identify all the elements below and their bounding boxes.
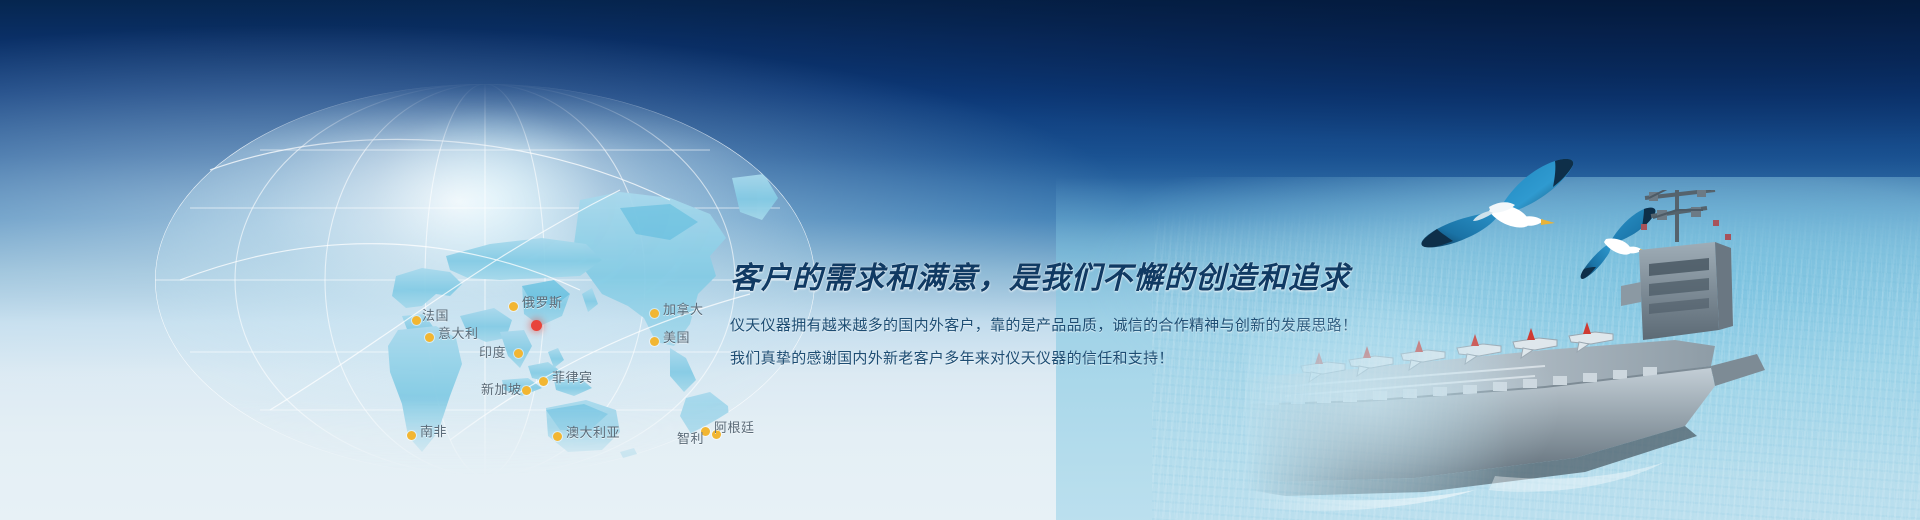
map-marker-canada[interactable] (650, 309, 659, 318)
map-marker-china[interactable] (531, 320, 542, 331)
map-label-india: 印度 (479, 342, 506, 361)
map-marker-singapore[interactable] (522, 386, 531, 395)
map-marker-italy[interactable] (425, 333, 434, 342)
map-label-canada: 加拿大 (663, 299, 704, 318)
map-marker-australia[interactable] (553, 432, 562, 441)
map-marker-russia[interactable] (509, 302, 518, 311)
map-marker-philippines[interactable] (539, 377, 548, 386)
map-label-russia: 俄罗斯 (522, 292, 563, 311)
map-label-australia: 澳大利亚 (566, 422, 620, 441)
map-label-argentina: 阿根廷 (714, 417, 755, 436)
map-label-singapore: 新加坡 (481, 379, 522, 398)
map-label-usa: 美国 (663, 327, 690, 346)
map-marker-south-africa[interactable] (407, 431, 416, 440)
carrier-haze (1245, 250, 1665, 510)
map-label-france: 法国 (422, 305, 449, 324)
hero-banner: 法国意大利俄罗斯印度加拿大美国菲律宾新加坡澳大利亚南非智利阿根廷 客户的需求和满… (0, 0, 1920, 520)
world-map-globe: 法国意大利俄罗斯印度加拿大美国菲律宾新加坡澳大利亚南非智利阿根廷 (150, 80, 830, 480)
map-label-south-africa: 南非 (420, 421, 447, 440)
map-label-italy: 意大利 (438, 323, 479, 342)
map-marker-india[interactable] (514, 349, 523, 358)
map-label-chile: 智利 (677, 428, 704, 447)
map-marker-france[interactable] (412, 316, 421, 325)
map-label-philippines: 菲律宾 (552, 367, 593, 386)
map-marker-usa[interactable] (650, 337, 659, 346)
